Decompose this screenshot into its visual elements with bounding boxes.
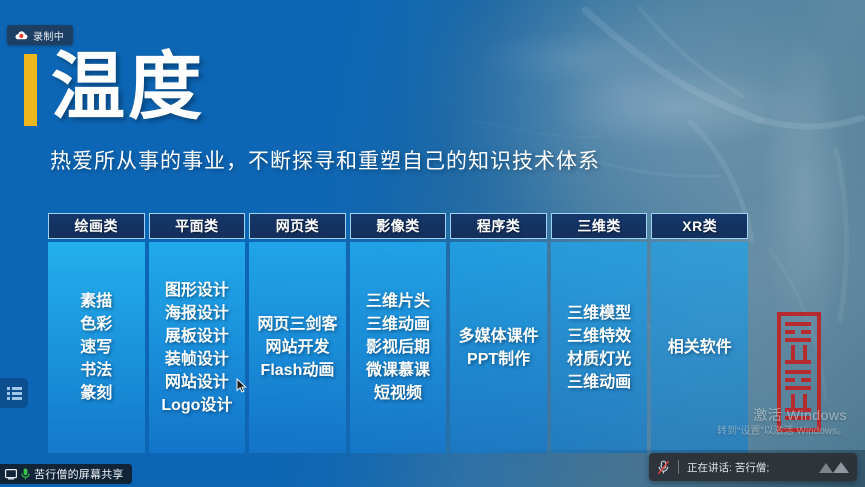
list-item: Flash动画: [257, 359, 337, 382]
slide-subtitle: 热爱所从事的事业，不断探寻和重塑自己的知识技术体系: [50, 148, 600, 176]
column-header: 网页类: [249, 213, 346, 239]
column-items: 素描 色彩 速写 书法 篆刻: [77, 290, 115, 405]
list-item: 篆刻: [80, 382, 112, 405]
column-body: 素描 色彩 速写 书法 篆刻: [48, 242, 145, 453]
audio-wave-icon: [819, 460, 849, 474]
speaking-label: 正在讲话: 苦行僧;: [687, 460, 769, 475]
title-accent-bar: [24, 54, 37, 126]
column-header: XR类: [651, 213, 748, 239]
list-item: 装帧设计: [161, 348, 232, 371]
microphone-muted-icon[interactable]: [657, 460, 670, 475]
list-item: 书法: [80, 359, 112, 382]
category-column-xr: XR类 相关软件: [651, 213, 748, 453]
category-column-pingmian: 平面类 图形设计 海报设计 展板设计 装帧设计 网站设计 Logo设计: [149, 213, 246, 453]
column-items: 相关软件: [665, 336, 735, 359]
monitor-icon: [5, 469, 17, 480]
cloud-record-icon: [14, 30, 28, 41]
column-items: 多媒体课件PPT制作: [450, 325, 547, 371]
list-item: 三维模型: [567, 302, 631, 325]
page-title: 温度: [51, 48, 205, 126]
list-item: 素描: [80, 290, 112, 313]
red-seal-stamp-icon: [777, 312, 821, 432]
column-header: 影像类: [350, 213, 447, 239]
list-item: 多媒体课件PPT制作: [453, 325, 544, 371]
column-body: 三维片头 三维动画 影视后期 微课慕课 短视频: [350, 242, 447, 453]
list-item: 三维动画: [366, 313, 430, 336]
list-item: 影视后期: [366, 336, 430, 359]
slide-screen: 录制中 温度 热爱所从事的事业，不断探寻和重塑自己的知识技术体系 绘画类 素描 …: [0, 0, 865, 487]
column-body: 图形设计 海报设计 展板设计 装帧设计 网站设计 Logo设计: [149, 242, 246, 453]
list-item: 微课慕课: [366, 359, 430, 382]
category-column-sanwei: 三维类 三维模型 三维特效 材质灯光 三维动画: [551, 213, 648, 453]
column-items: 三维片头 三维动画 影视后期 微课慕课 短视频: [363, 290, 433, 405]
speaking-panel[interactable]: 正在讲话: 苦行僧;: [649, 453, 857, 481]
list-menu-icon[interactable]: [0, 378, 28, 408]
column-header: 平面类: [149, 213, 246, 239]
column-items: 网页三剑客 网站开发 Flash动画: [254, 313, 340, 382]
column-items: 三维模型 三维特效 材质灯光 三维动画: [564, 302, 634, 394]
list-item: 速写: [80, 336, 112, 359]
column-header: 绘画类: [48, 213, 145, 239]
microphone-icon: [21, 468, 30, 480]
list-item: 网页三剑客: [257, 313, 337, 336]
list-item: 三维特效: [567, 325, 631, 348]
recording-badge-label: 录制中: [33, 28, 64, 43]
column-body: 相关软件: [651, 242, 748, 453]
list-item: 网站设计: [161, 371, 232, 394]
list-item: 材质灯光: [567, 348, 631, 371]
panel-divider: [678, 460, 679, 474]
list-item: 相关软件: [668, 336, 732, 359]
column-header: 三维类: [551, 213, 648, 239]
category-column-huihua: 绘画类 素描 色彩 速写 书法 篆刻: [48, 213, 145, 453]
column-items: 图形设计 海报设计 展板设计 装帧设计 网站设计 Logo设计: [158, 279, 235, 417]
list-item: 三维片头: [366, 290, 430, 313]
list-item: 三维动画: [567, 371, 631, 394]
list-item: 网站开发: [257, 336, 337, 359]
list-item: 展板设计: [161, 325, 232, 348]
slide-title-row: 温度: [24, 48, 205, 126]
column-body: 网页三剑客 网站开发 Flash动画: [249, 242, 346, 453]
recording-badge: 录制中: [7, 25, 73, 45]
list-item: 海报设计: [161, 302, 232, 325]
column-body: 三维模型 三维特效 材质灯光 三维动画: [551, 242, 648, 453]
list-item: Logo设计: [161, 394, 232, 417]
list-item: 短视频: [366, 382, 430, 405]
list-item: 图形设计: [161, 279, 232, 302]
screen-share-label: 苦行僧的屏幕共享: [34, 466, 124, 482]
category-columns: 绘画类 素描 色彩 速写 书法 篆刻 平面类 图形设计 海报设计 展板设计 装帧…: [48, 213, 748, 453]
list-item: 色彩: [80, 313, 112, 336]
column-body: 多媒体课件PPT制作: [450, 242, 547, 453]
category-column-yingxiang: 影像类 三维片头 三维动画 影视后期 微课慕课 短视频: [350, 213, 447, 453]
column-header: 程序类: [450, 213, 547, 239]
category-column-wangye: 网页类 网页三剑客 网站开发 Flash动画: [249, 213, 346, 453]
screen-share-indicator[interactable]: 苦行僧的屏幕共享: [0, 464, 132, 484]
category-column-chengxu: 程序类 多媒体课件PPT制作: [450, 213, 547, 453]
